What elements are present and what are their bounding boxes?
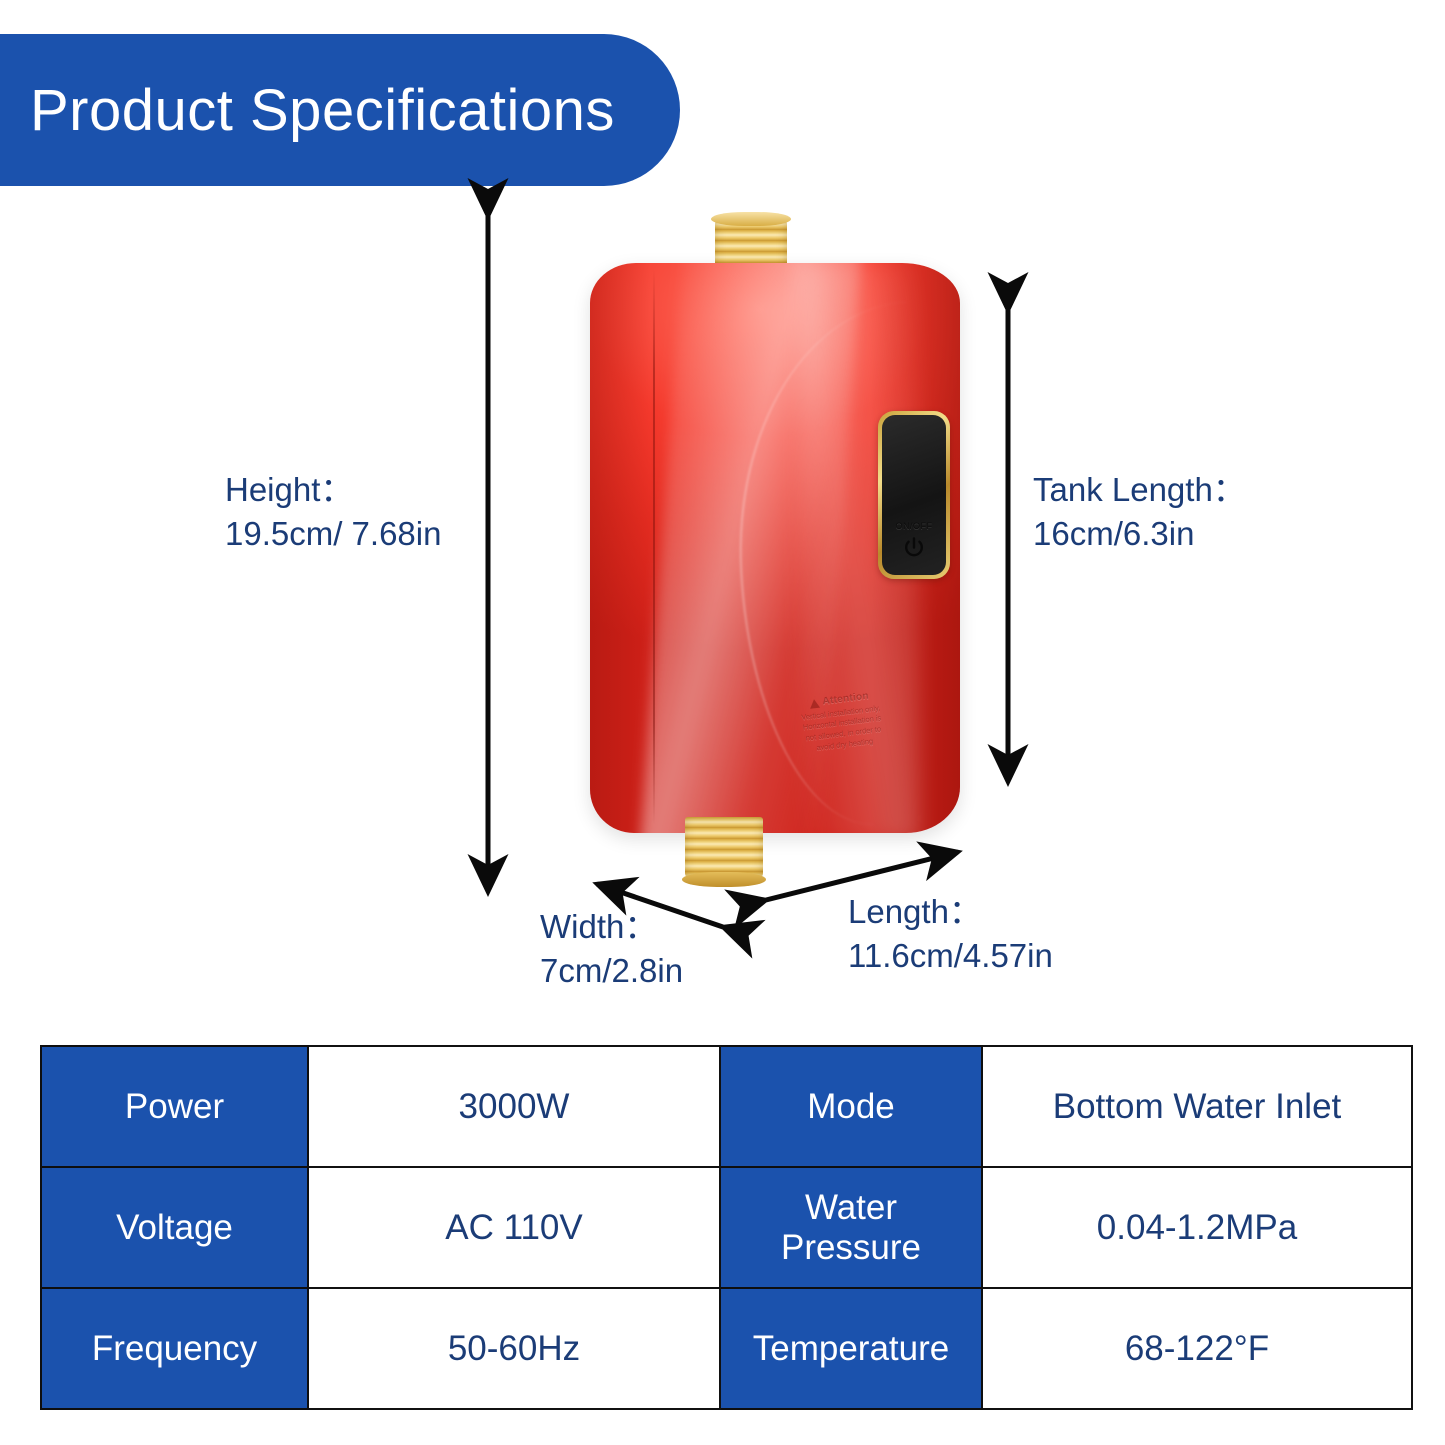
length-label-text: Length： — [848, 893, 982, 930]
height-value-text: 19.5cm/ 7.68in — [225, 512, 441, 556]
spec-value-power: 3000W — [308, 1046, 720, 1167]
table-row: Power 3000W Mode Bottom Water Inlet — [41, 1046, 1412, 1167]
spec-value-voltage: AC 110V — [308, 1167, 720, 1288]
product-specification-page: Product Specifications Height： 19.5cm/ 7… — [0, 0, 1445, 1445]
table-row: Voltage AC 110V Water Pressure 0.04-1.2M… — [41, 1167, 1412, 1288]
specifications-table: Power 3000W Mode Bottom Water Inlet Volt… — [40, 1045, 1413, 1410]
bottom-brass-fitting-icon — [685, 817, 763, 879]
onoff-label: ON/OFF — [882, 521, 946, 531]
spec-value-mode: Bottom Water Inlet — [982, 1046, 1412, 1167]
spec-key-water-pressure-line1: Water — [721, 1188, 981, 1227]
body-left-shading — [590, 263, 650, 833]
table-row: Frequency 50-60Hz Temperature 68-122°F — [41, 1288, 1412, 1409]
spec-key-temperature: Temperature — [720, 1288, 982, 1409]
width-value-text: 7cm/2.8in — [540, 949, 683, 993]
product-image: Attention Vertical installation only, Ho… — [575, 205, 975, 895]
spec-key-water-pressure-line2: Pressure — [721, 1228, 981, 1267]
height-dimension-label: Height： 19.5cm/ 7.68in — [225, 468, 441, 555]
spec-key-water-pressure: Water Pressure — [720, 1167, 982, 1288]
width-dimension-label: Width： 7cm/2.8in — [540, 905, 683, 992]
heater-body: Attention Vertical installation only, Ho… — [590, 263, 960, 833]
body-seam-line — [653, 269, 655, 825]
control-panel[interactable]: ON/OFF — [878, 411, 950, 579]
control-panel-display: ON/OFF — [882, 415, 946, 575]
tank-length-value-text: 16cm/6.3in — [1033, 512, 1246, 556]
length-dimension-label: Length： 11.6cm/4.57in — [848, 890, 1053, 977]
length-value-text: 11.6cm/4.57in — [848, 934, 1053, 978]
tank-length-label-text: Tank Length： — [1033, 471, 1246, 508]
width-label-text: Width： — [540, 908, 657, 945]
height-label-text: Height： — [225, 471, 353, 508]
spec-value-water-pressure: 0.04-1.2MPa — [982, 1167, 1412, 1288]
spec-value-temperature: 68-122°F — [982, 1288, 1412, 1409]
warning-triangle-icon — [809, 698, 820, 708]
spec-key-power: Power — [41, 1046, 308, 1167]
spec-key-voltage: Voltage — [41, 1167, 308, 1288]
power-icon[interactable] — [901, 535, 927, 561]
spec-value-frequency: 50-60Hz — [308, 1288, 720, 1409]
tank-length-dimension-label: Tank Length： 16cm/6.3in — [1033, 468, 1246, 555]
spec-key-frequency: Frequency — [41, 1288, 308, 1409]
spec-key-mode: Mode — [720, 1046, 982, 1167]
